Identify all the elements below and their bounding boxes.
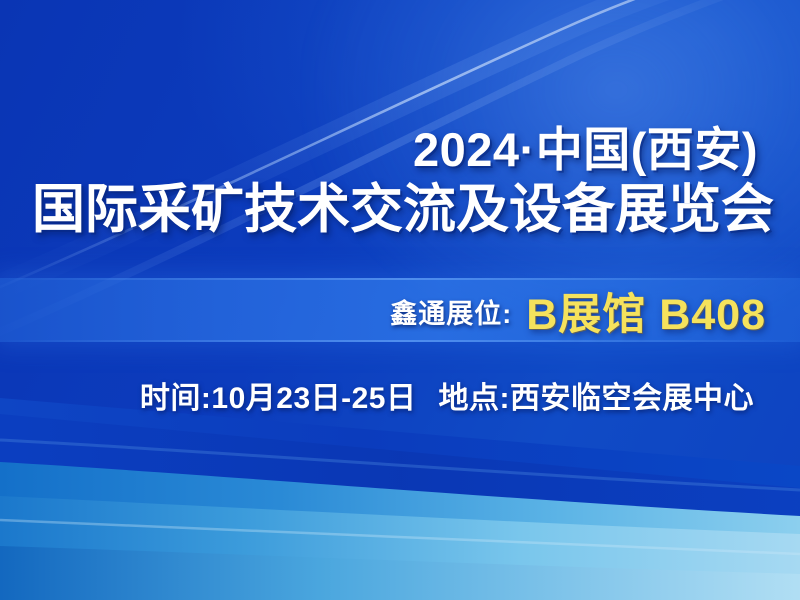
event-meta-row: 时间:10月23日-25日 地点:西安临空会展中心 <box>0 375 754 415</box>
booth-label: 鑫通展位: <box>390 292 512 331</box>
page-title-line-2: 国际采矿技术交流及设备展览会 <box>32 181 774 239</box>
poster-text-layer: 2024·中国(西安) 国际采矿技术交流及设备展览会 鑫通展位: B展馆 B40… <box>0 0 800 600</box>
booth-info-row: 鑫通展位: B展馆 B408 <box>0 286 766 336</box>
exhibition-poster: 2024·中国(西安) 国际采矿技术交流及设备展览会 鑫通展位: B展馆 B40… <box>0 0 800 600</box>
booth-number: B展馆 B408 <box>526 280 766 342</box>
event-venue: 地点:西安临空会展中心 <box>439 373 755 417</box>
event-date: 时间:10月23日-25日 <box>140 373 417 417</box>
page-title-line-1: 2024·中国(西安) <box>413 124 758 176</box>
